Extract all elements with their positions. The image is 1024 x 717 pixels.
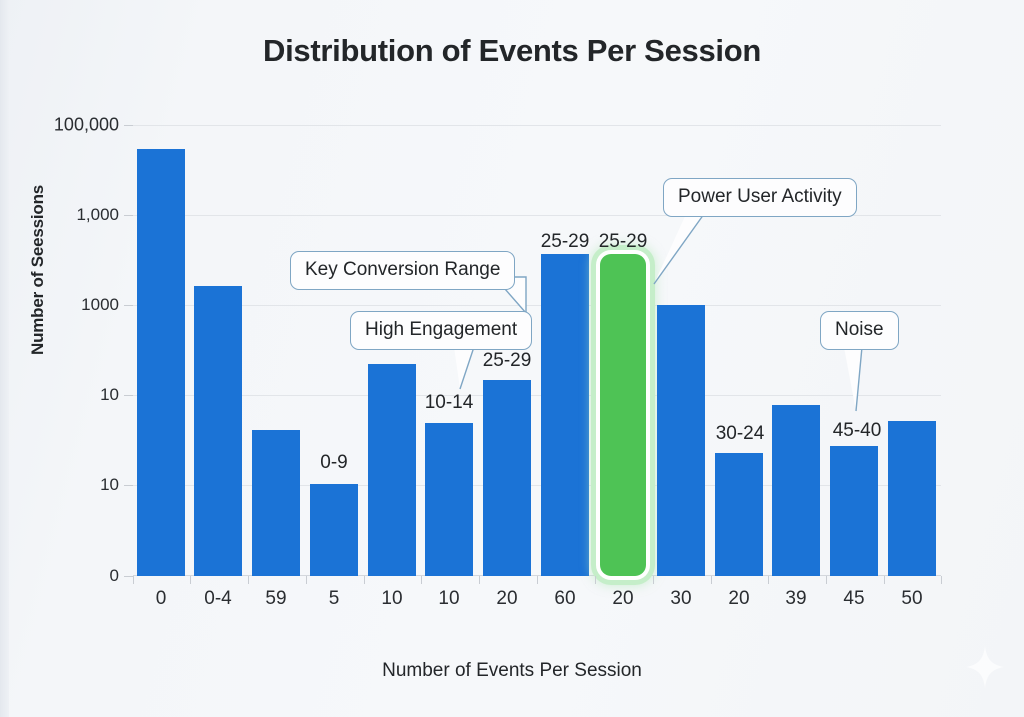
x-tick-mark xyxy=(248,576,249,584)
x-axis-label: 0 xyxy=(156,588,167,610)
bar-10[interactable] xyxy=(715,453,763,576)
x-tick-mark xyxy=(711,576,712,584)
x-tick-mark xyxy=(306,576,307,584)
chart-canvas: Distribution of Events Per Session Numbe… xyxy=(0,0,1024,717)
bar-3[interactable] xyxy=(310,484,358,576)
page-title: Distribution of Events Per Session xyxy=(0,33,1024,69)
bar-value-label: 0-9 xyxy=(320,452,347,474)
x-tick-mark xyxy=(537,576,538,584)
bar-11[interactable] xyxy=(772,405,820,576)
sparkle-icon xyxy=(965,645,1005,689)
callout-high-engagement[interactable]: High Engagement xyxy=(350,311,532,350)
y-tick-label: 0 xyxy=(9,566,119,586)
x-axis-label: 39 xyxy=(785,588,806,610)
bar-12[interactable] xyxy=(830,446,878,576)
bar-value-label: 25-29 xyxy=(541,231,590,253)
callout-noise[interactable]: Noise xyxy=(820,311,899,350)
bar-4[interactable] xyxy=(368,364,416,576)
x-tick-mark xyxy=(826,576,827,584)
bar-1[interactable] xyxy=(194,286,242,576)
x-tick-mark xyxy=(768,576,769,584)
x-tick-mark xyxy=(133,576,134,584)
y-tick-label: 10 xyxy=(9,475,119,495)
x-tick-mark xyxy=(479,576,480,584)
x-axis-label: 50 xyxy=(901,588,922,610)
x-axis-label: 20 xyxy=(612,588,633,610)
callout-power-user-activity[interactable]: Power User Activity xyxy=(663,178,857,217)
y-tick-mark xyxy=(124,395,133,396)
x-tick-mark xyxy=(653,576,654,584)
x-tick-mark xyxy=(884,576,885,584)
x-axis-label: 30 xyxy=(670,588,691,610)
bar-13[interactable] xyxy=(888,421,936,576)
bar-value-label: 30-24 xyxy=(716,423,765,445)
y-tick-label: 10 xyxy=(9,385,119,405)
x-axis-label: 10 xyxy=(438,588,459,610)
bar-value-label: 10-14 xyxy=(425,392,474,414)
x-tick-mark xyxy=(190,576,191,584)
bar-value-label: 25-29 xyxy=(599,231,648,253)
callout-text: Key Conversion Range xyxy=(305,259,500,280)
x-tick-mark xyxy=(364,576,365,584)
x-axis-label: 45 xyxy=(843,588,864,610)
y-tick-label: 1,000 xyxy=(9,205,119,225)
y-tick-mark xyxy=(124,125,133,126)
x-axis-title: Number of Events Per Session xyxy=(0,660,1024,682)
x-axis-label: 20 xyxy=(728,588,749,610)
gridline xyxy=(133,395,941,396)
bar-5[interactable] xyxy=(425,423,473,576)
x-axis-label: 59 xyxy=(265,588,286,610)
bar-7[interactable] xyxy=(541,254,589,576)
gridline xyxy=(133,305,941,306)
x-tick-mark xyxy=(941,576,942,584)
bar-2[interactable] xyxy=(252,430,300,576)
y-tick-mark xyxy=(124,485,133,486)
y-tick-mark xyxy=(124,305,133,306)
y-tick-label: 100,000 xyxy=(9,115,119,136)
x-tick-mark xyxy=(421,576,422,584)
bar-8-highlighted[interactable] xyxy=(600,254,646,576)
y-tick-mark xyxy=(124,576,133,577)
y-tick-label: 1000 xyxy=(9,295,119,315)
y-tick-mark xyxy=(124,215,133,216)
bar-6[interactable] xyxy=(483,380,531,576)
callout-text: High Engagement xyxy=(365,319,517,340)
x-axis-label: 10 xyxy=(381,588,402,610)
callout-key-conversion-range[interactable]: Key Conversion Range xyxy=(290,251,515,290)
x-tick-mark xyxy=(595,576,596,584)
x-axis-label: 0-4 xyxy=(204,588,231,610)
bar-0[interactable] xyxy=(137,149,185,576)
x-axis-label: 60 xyxy=(554,588,575,610)
callout-text: Power User Activity xyxy=(678,186,842,207)
x-axis-label: 20 xyxy=(496,588,517,610)
gridline xyxy=(133,125,941,126)
x-axis-label: 5 xyxy=(329,588,340,610)
bar-9[interactable] xyxy=(657,305,705,576)
bar-value-label: 45-40 xyxy=(833,420,882,442)
callout-text: Noise xyxy=(835,319,884,340)
bar-value-label: 25-29 xyxy=(483,350,532,372)
